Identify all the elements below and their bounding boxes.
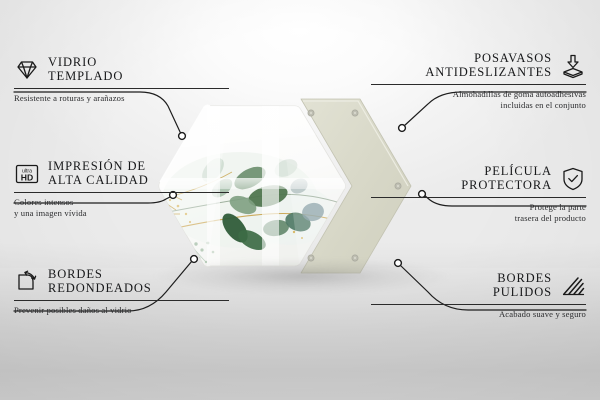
infographic-canvas: VIDRIO TEMPLADO Resistente a roturas y a… xyxy=(0,0,600,400)
feature-subtitle-line: Acabado suave y seguro xyxy=(371,309,586,320)
feature-title: IMPRESIÓN DE ALTA CALIDAD xyxy=(48,160,149,187)
feature-title-line: POSAVASOS xyxy=(425,52,552,66)
feature-subtitle: Colores intensos y una imagen vívida xyxy=(14,197,229,218)
press-pad-icon xyxy=(560,53,586,79)
feature-title-line: REDONDEADOS xyxy=(48,282,152,296)
feature-header: POSAVASOS ANTIDESLIZANTES xyxy=(371,52,586,79)
feature-divider xyxy=(14,88,229,89)
feature-subtitle-line: Resistente a roturas y arañazos xyxy=(14,93,229,104)
feature-divider xyxy=(14,300,229,301)
feature-polished-edges: BORDES PULIDOS Acabado suave y seguro xyxy=(371,272,586,320)
feature-subtitle-line: Prevenir posibles daños al vidrio xyxy=(14,305,229,316)
feature-divider xyxy=(14,192,229,193)
rounded-corner-icon xyxy=(14,269,40,295)
feature-rounded-edges: BORDES REDONDEADOS Prevenir posibles dañ… xyxy=(14,268,229,316)
feature-title: BORDES REDONDEADOS xyxy=(48,268,152,295)
leader-dot-polished xyxy=(395,260,402,267)
feature-subtitle-line: y una imagen vívida xyxy=(14,208,229,219)
leader-dot-tempered-glass xyxy=(179,133,186,140)
feature-divider xyxy=(371,84,586,85)
feature-title-line: BORDES xyxy=(48,268,152,282)
feature-subtitle-line: Protege la parte xyxy=(371,202,586,213)
feature-title-line: PULIDOS xyxy=(493,286,552,300)
shield-check-icon xyxy=(560,166,586,192)
feature-subtitle: Almohadillas de goma autoadhesivas inclu… xyxy=(371,89,586,110)
feature-header: ultra HD IMPRESIÓN DE ALTA CALIDAD xyxy=(14,160,229,187)
ultra-hd-badge-icon: ultra HD xyxy=(14,161,40,187)
feature-title-line: ALTA CALIDAD xyxy=(48,174,149,188)
leader-dot-coasters xyxy=(399,125,406,132)
feature-divider xyxy=(371,197,586,198)
polish-lines-icon xyxy=(560,273,586,299)
feature-title-line: PELÍCULA xyxy=(461,165,552,179)
feature-title-line: ANTIDESLIZANTES xyxy=(425,66,552,80)
feature-divider xyxy=(371,304,586,305)
svg-text:HD: HD xyxy=(21,172,33,182)
leader-dot-rounded-edges xyxy=(191,256,198,263)
feature-non-slip-coasters: POSAVASOS ANTIDESLIZANTES Almohadillas d… xyxy=(371,52,586,110)
feature-header: BORDES REDONDEADOS xyxy=(14,268,229,295)
feature-subtitle-line: Colores intensos xyxy=(14,197,229,208)
feature-title-line: TEMPLADO xyxy=(48,70,123,84)
feature-title: POSAVASOS ANTIDESLIZANTES xyxy=(425,52,552,79)
feature-title: BORDES PULIDOS xyxy=(493,272,552,299)
feature-high-quality-print: ultra HD IMPRESIÓN DE ALTA CALIDAD Color… xyxy=(14,160,229,218)
feature-subtitle: Protege la parte trasera del producto xyxy=(371,202,586,223)
feature-title-line: PROTECTORA xyxy=(461,179,552,193)
feature-title-line: VIDRIO xyxy=(48,56,123,70)
feature-subtitle-line: incluidas en el conjunto xyxy=(371,100,586,111)
feature-title: VIDRIO TEMPLADO xyxy=(48,56,123,83)
feature-title-line: BORDES xyxy=(493,272,552,286)
feature-title-line: IMPRESIÓN DE xyxy=(48,160,149,174)
feature-header: BORDES PULIDOS xyxy=(371,272,586,299)
feature-title: PELÍCULA PROTECTORA xyxy=(461,165,552,192)
feature-tempered-glass: VIDRIO TEMPLADO Resistente a roturas y a… xyxy=(14,56,229,104)
feature-subtitle: Prevenir posibles daños al vidrio xyxy=(14,305,229,316)
feature-header: PELÍCULA PROTECTORA xyxy=(371,165,586,192)
feature-subtitle: Acabado suave y seguro xyxy=(371,309,586,320)
feature-subtitle-line: Almohadillas de goma autoadhesivas xyxy=(371,89,586,100)
feature-subtitle: Resistente a roturas y arañazos xyxy=(14,93,229,104)
feature-subtitle-line: trasera del producto xyxy=(371,213,586,224)
feature-header: VIDRIO TEMPLADO xyxy=(14,56,229,83)
diamond-icon xyxy=(14,57,40,83)
feature-protective-film: PELÍCULA PROTECTORA Protege la parte tra… xyxy=(371,165,586,223)
